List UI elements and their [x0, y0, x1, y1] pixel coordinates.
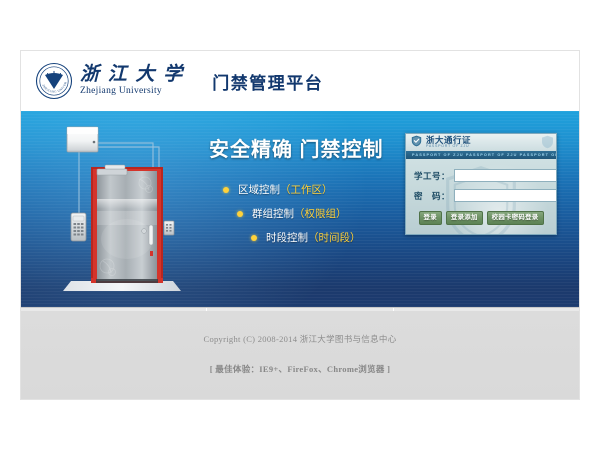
login-strip-text: PASSPORT OF ZJU PASSPORT OF ZJU PASSPORT…: [406, 153, 556, 157]
controller-box: [67, 127, 98, 152]
feature-item-area: 区域控制 （工作区）: [209, 182, 409, 197]
feature-main-text: 时段控制: [266, 230, 308, 245]
feature-item-group: 群组控制 （权限组）: [209, 206, 409, 221]
login-panel: 浙大通行证 PASSPORT OF ZJU PASSPORT OF ZJU PA…: [405, 133, 557, 235]
access-control-door-illustration: [49, 121, 224, 301]
feature-sub-text: （时间段）: [308, 230, 361, 245]
login-passport-strip: PASSPORT OF ZJU PASSPORT OF ZJU PASSPORT…: [406, 151, 556, 159]
zju-seal-icon: ZHEJIANG UNIVERSITY: [35, 62, 73, 100]
page-container: ZHEJIANG UNIVERSITY 浙 江 大 学 Zhejiang Uni…: [20, 50, 580, 400]
university-name-en: Zhejiang University: [80, 87, 184, 97]
shield-watermark-icon: [541, 135, 554, 151]
password-input[interactable]: [454, 189, 557, 202]
login-title-cn: 浙大通行证: [426, 136, 471, 145]
site-footer: Copyright (C) 2008-2014 浙江大学图书与信息中心 [ 最佳…: [21, 307, 579, 400]
page-title: 门禁管理平台: [212, 69, 323, 94]
username-label: 学工号：: [414, 170, 450, 182]
bullet-icon: [223, 187, 229, 193]
copyright-text: Copyright (C) 2008-2014 浙江大学图书与信息中心: [21, 335, 579, 344]
feature-sub-text: （权限组）: [294, 206, 347, 221]
bullet-icon: [237, 211, 243, 217]
brand-logo[interactable]: ZHEJIANG UNIVERSITY 浙 江 大 学 Zhejiang Uni…: [35, 62, 184, 100]
door-closer: [97, 165, 127, 175]
banner-slogan: 安全精确 门禁控制: [209, 133, 409, 162]
password-row: 密 码：: [414, 189, 548, 202]
password-label: 密 码：: [414, 190, 450, 202]
feature-list: 区域控制 （工作区） 群组控制 （权限组） 时段控制 （时间段）: [209, 182, 409, 245]
feature-main-text: 群组控制: [252, 206, 294, 221]
site-header: ZHEJIANG UNIVERSITY 浙 江 大 学 Zhejiang Uni…: [21, 51, 579, 111]
login-panel-header: 浙大通行证 PASSPORT OF ZJU: [406, 134, 556, 151]
username-input[interactable]: [454, 169, 557, 182]
university-name-cn: 浙 江 大 学: [80, 65, 184, 84]
card-reader: [164, 221, 174, 235]
university-name: 浙 江 大 学 Zhejiang University: [80, 65, 184, 97]
username-row: 学工号：: [414, 169, 548, 182]
login-button-row: 登录 登录添加 校园卡密码登录: [414, 211, 548, 225]
login-add-button[interactable]: 登录添加: [446, 211, 483, 225]
hero-banner: 安全精确 门禁控制 区域控制 （工作区） 群组控制 （权限组） 时段控制 （时间…: [21, 111, 579, 307]
keypad-reader: [71, 213, 86, 241]
banner-text-block: 安全精确 门禁控制 区域控制 （工作区） 群组控制 （权限组） 时段控制 （时间…: [209, 133, 409, 254]
feature-main-text: 区域控制: [238, 182, 280, 197]
campus-card-login-button[interactable]: 校园卡密码登录: [487, 211, 544, 225]
login-button[interactable]: 登录: [419, 211, 442, 225]
feature-item-time: 时段控制 （时间段）: [209, 230, 409, 245]
footer-divider: [21, 308, 579, 311]
login-title-en: PASSPORT OF ZJU: [426, 145, 471, 149]
login-form: 学工号： 密 码： 登录 登录添加 校园卡密码登录: [406, 159, 556, 234]
feature-sub-text: （工作区）: [280, 182, 333, 197]
shield-icon: [411, 134, 422, 151]
browser-support-text: [ 最佳体验：IE9+、FireFox、Chrome浏览器 ]: [21, 365, 579, 374]
bullet-icon: [251, 235, 257, 241]
